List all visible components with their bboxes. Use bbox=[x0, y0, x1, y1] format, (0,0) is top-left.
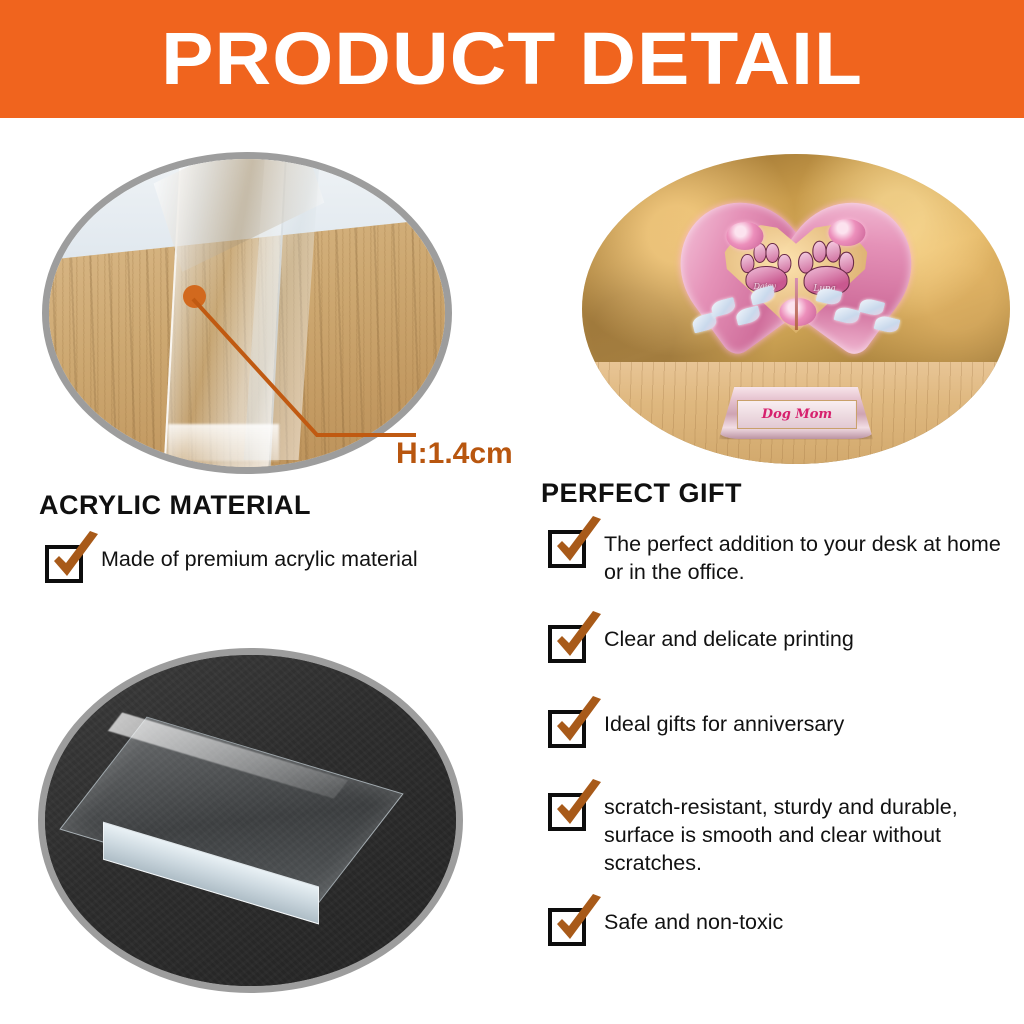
callout-leader-line bbox=[180, 285, 420, 470]
feature-item-gift-5: Safe and non-toxic bbox=[548, 908, 783, 946]
checkbox-checked[interactable] bbox=[548, 625, 586, 663]
crystal-leaf bbox=[859, 296, 886, 317]
page-title: PRODUCT DETAIL bbox=[161, 22, 863, 96]
crystal-leaf bbox=[735, 305, 762, 326]
ornament-stem bbox=[794, 278, 797, 330]
header-banner: PRODUCT DETAIL bbox=[0, 0, 1024, 118]
rose-decoration bbox=[727, 222, 764, 250]
rose-decoration bbox=[828, 219, 865, 247]
checkbox-checked[interactable] bbox=[548, 710, 586, 748]
base-name-plate: Dog Mom bbox=[737, 400, 856, 428]
checkmark-icon bbox=[551, 697, 607, 753]
feature-item-gift-3: Ideal gifts for anniversary bbox=[548, 710, 844, 748]
feature-text: Ideal gifts for anniversary bbox=[604, 710, 844, 738]
checkbox-checked[interactable] bbox=[548, 908, 586, 946]
section-heading-acrylic-material: ACRYLIC MATERIAL bbox=[39, 490, 311, 521]
feature-text: scratch-resistant, sturdy and durable, s… bbox=[604, 793, 1004, 877]
feature-item-acrylic-1: Made of premium acrylic material bbox=[45, 545, 418, 583]
crystal-leaf bbox=[816, 285, 843, 306]
checkmark-icon bbox=[551, 895, 607, 951]
jeweled-heart: Daisy Luna bbox=[680, 194, 911, 368]
checkbox-checked[interactable] bbox=[45, 545, 83, 583]
crystal-leaf bbox=[834, 305, 861, 326]
feature-text: Made of premium acrylic material bbox=[101, 545, 418, 573]
feature-item-gift-1: The perfect addition to your desk at hom… bbox=[548, 530, 1004, 586]
base-text: Dog Mom bbox=[762, 407, 832, 422]
feature-text: Clear and delicate printing bbox=[604, 625, 854, 653]
crystal-leaf bbox=[873, 314, 900, 335]
section-heading-perfect-gift: PERFECT GIFT bbox=[541, 478, 742, 509]
checkmark-icon bbox=[551, 517, 607, 573]
crystal-leaf bbox=[749, 285, 776, 306]
feature-item-gift-2: Clear and delicate printing bbox=[548, 625, 854, 663]
feature-item-gift-4: scratch-resistant, sturdy and durable, s… bbox=[548, 793, 1004, 877]
feature-text: The perfect addition to your desk at hom… bbox=[604, 530, 1004, 586]
photo-acrylic-block bbox=[38, 648, 463, 993]
crystal-leaf bbox=[710, 296, 737, 317]
checkmark-icon bbox=[551, 780, 607, 836]
ornament-base: Dog Mom bbox=[719, 387, 873, 440]
checkbox-checked[interactable] bbox=[548, 793, 586, 831]
checkmark-icon bbox=[48, 532, 104, 588]
checkmark-icon bbox=[551, 612, 607, 668]
photo-product-ornament: Daisy Luna Dog Mom bbox=[582, 154, 1010, 464]
dimension-label: H:1.4cm bbox=[396, 437, 513, 471]
feature-text: Safe and non-toxic bbox=[604, 908, 783, 936]
checkbox-checked[interactable] bbox=[548, 530, 586, 568]
